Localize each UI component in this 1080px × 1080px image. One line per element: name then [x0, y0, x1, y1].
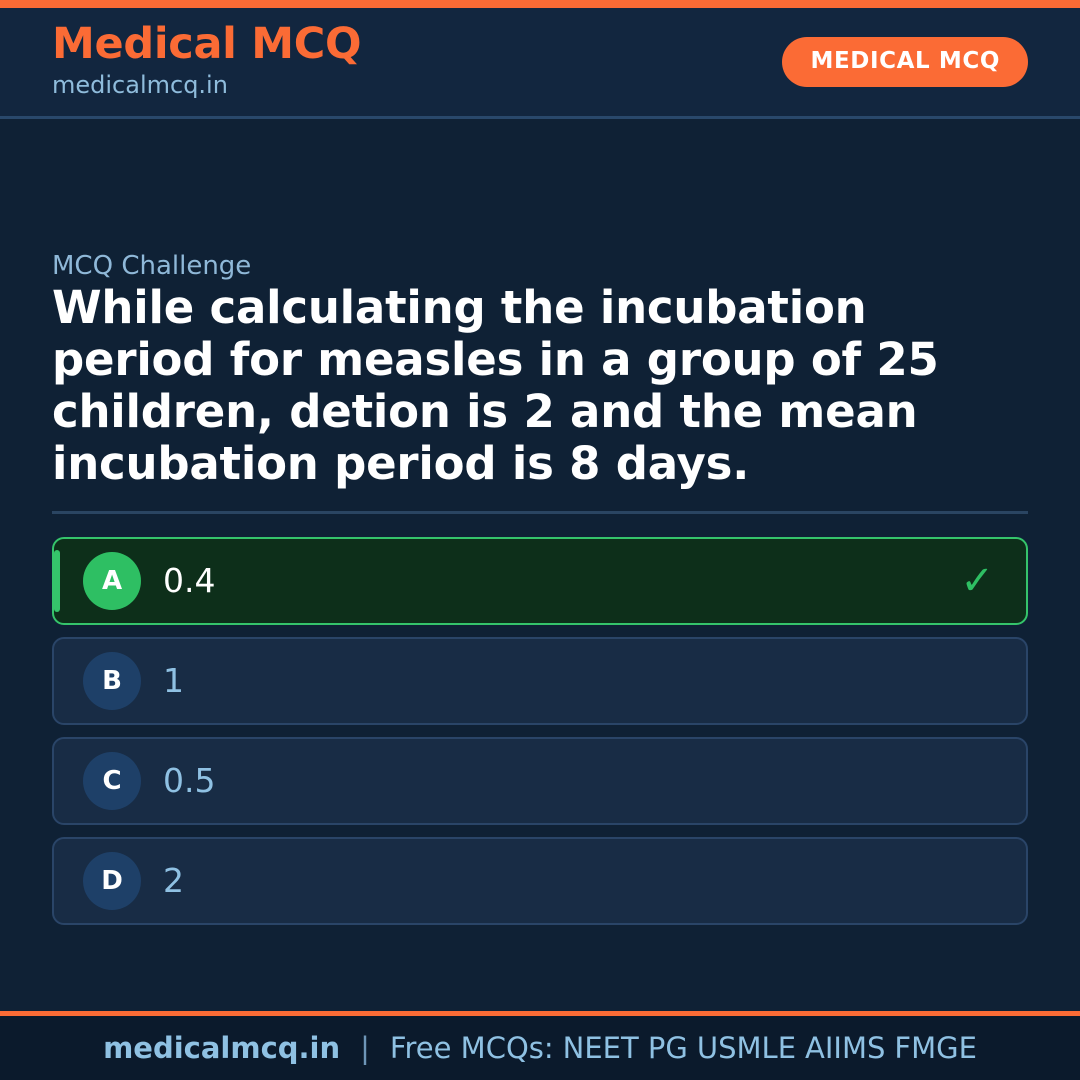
correct-accent-bar [54, 550, 60, 612]
footer-label: Free MCQs: [390, 1034, 554, 1063]
option-a-text: 0.4 [163, 564, 215, 599]
question-text: While calculating the incubation period … [52, 282, 1037, 490]
brand-subtitle: medicalmcq.in [52, 70, 361, 101]
option-a[interactable]: A 0.4 ✓ [52, 537, 1028, 625]
option-b-text: 1 [163, 664, 184, 699]
footer-site: medicalmcq.in [103, 1034, 340, 1063]
option-c-letter: C [83, 752, 141, 810]
option-a-letter: A [83, 552, 141, 610]
footer-exam-usmle: USMLE [697, 1034, 796, 1063]
option-d[interactable]: D 2 [52, 837, 1028, 925]
option-d-text: 2 [163, 864, 184, 899]
footer-row: medicalmcq.in | Free MCQs: NEET PG USMLE… [103, 1034, 977, 1063]
header: Medical MCQ medicalmcq.in MEDICAL MCQ [0, 8, 1080, 119]
mcq-card: Medical MCQ medicalmcq.in MEDICAL MCQ MC… [0, 0, 1080, 1080]
option-d-letter: D [83, 852, 141, 910]
option-b[interactable]: B 1 [52, 637, 1028, 725]
option-c[interactable]: C 0.5 [52, 737, 1028, 825]
footer-exam-aiims: AIIMS [805, 1034, 885, 1063]
brand: Medical MCQ medicalmcq.in [52, 22, 361, 101]
top-accent-bar [0, 0, 1080, 8]
options-list: A 0.4 ✓ B 1 C 0.5 D 2 [52, 537, 1028, 937]
question-kicker: MCQ Challenge [52, 253, 251, 279]
question-divider [52, 511, 1028, 514]
footer-exam-neet-pg: NEET PG [563, 1034, 688, 1063]
brand-title: Medical MCQ [52, 22, 361, 67]
main-content: MCQ Challenge While calculating the incu… [0, 119, 1080, 1011]
footer-separator: | [360, 1034, 370, 1063]
footer-exam-fmge: FMGE [894, 1034, 977, 1063]
header-badge: MEDICAL MCQ [782, 37, 1028, 87]
footer: medicalmcq.in | Free MCQs: NEET PG USMLE… [0, 1011, 1080, 1080]
option-b-letter: B [83, 652, 141, 710]
check-icon: ✓ [960, 561, 994, 601]
option-c-text: 0.5 [163, 764, 215, 799]
